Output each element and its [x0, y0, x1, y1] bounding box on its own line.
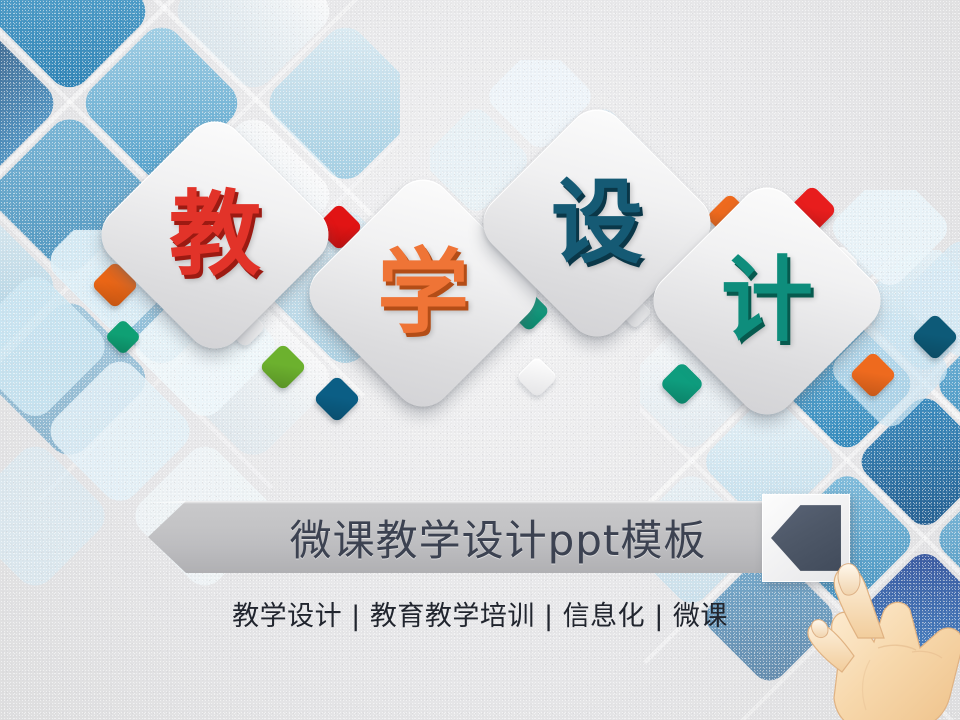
presentation-slide: 教学设计 微课教学设计ppt模板 [0, 0, 960, 720]
page-title: 微课教学设计ppt模板 [148, 501, 820, 573]
slide-subtitle: 教学设计 | 教育教学培训 | 信息化 | 微课 [0, 594, 960, 633]
diamond-card-1: 教 [89, 109, 341, 361]
diamond-card-glyph: 计 [678, 212, 856, 390]
diamond-card-4: 计 [641, 175, 893, 427]
title-banner: 微课教学设计ppt模板 [148, 501, 820, 573]
diamond-card-glyph: 教 [126, 146, 304, 324]
